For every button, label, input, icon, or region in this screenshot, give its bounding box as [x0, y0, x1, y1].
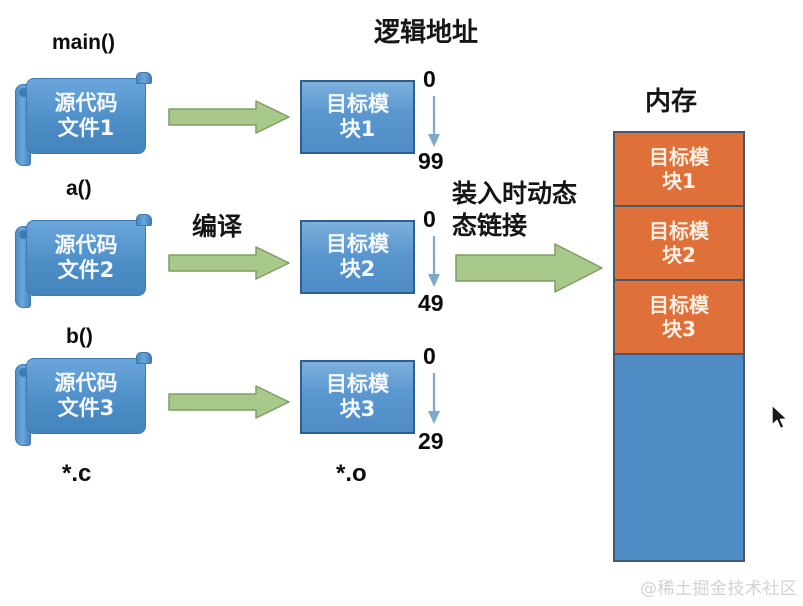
compile-label: 编译	[192, 213, 242, 241]
compile-arrow-1	[168, 100, 290, 134]
dynamic-link-arrow	[455, 243, 603, 293]
memory-block-2-line2: 块2	[662, 243, 696, 267]
target-module-1[interactable]: 目标模 块1	[300, 80, 415, 154]
source-file-2[interactable]: 源代码 文件2	[14, 214, 154, 302]
scroll-right-roll	[136, 214, 152, 226]
source-file-3[interactable]: 源代码 文件3	[14, 352, 154, 440]
source-file-1[interactable]: 源代码 文件1	[14, 72, 154, 160]
address-range-arrow-3	[424, 373, 444, 425]
function-label-b: b()	[66, 326, 93, 347]
address-start-2: 0	[423, 208, 436, 231]
memory-column[interactable]: 目标模 块1 目标模 块2 目标模 块3	[613, 131, 745, 562]
compile-arrow-2	[168, 246, 290, 280]
address-end-1: 99	[418, 150, 444, 173]
target-module-3-line1: 目标模	[326, 372, 389, 397]
memory-block-2-line1: 目标模	[649, 219, 709, 243]
memory-block-3[interactable]: 目标模 块3	[615, 281, 743, 355]
address-start-3: 0	[423, 345, 436, 368]
source-file-1-line2: 文件1	[58, 116, 115, 141]
memory-block-3-line2: 块3	[662, 317, 696, 341]
target-module-2-line2: 块2	[340, 257, 376, 282]
source-file-3-line1: 源代码	[55, 371, 118, 396]
mouse-cursor	[770, 404, 790, 432]
function-label-main: main()	[52, 32, 115, 53]
target-module-2[interactable]: 目标模 块2	[300, 220, 415, 294]
target-module-3-line2: 块3	[340, 397, 376, 422]
address-start-1: 0	[423, 68, 436, 91]
source-file-3-line2: 文件3	[58, 396, 115, 421]
scroll-body: 源代码 文件3	[26, 358, 146, 434]
diagram-canvas: 逻辑地址 内存 main() 源代码 文件1 目标模 块1 0 99 a() 源…	[0, 0, 803, 606]
address-range-arrow-1	[424, 96, 444, 148]
source-extension-label: *.c	[62, 462, 91, 486]
target-module-1-line2: 块1	[340, 117, 376, 142]
dynamic-link-label-line2: 态链接	[452, 212, 527, 240]
target-module-1-line1: 目标模	[326, 92, 389, 117]
memory-block-3-line1: 目标模	[649, 293, 709, 317]
logical-address-heading: 逻辑地址	[374, 19, 478, 48]
memory-heading: 内存	[645, 88, 697, 117]
watermark: @稀土掘金技术社区	[640, 574, 798, 599]
target-module-3[interactable]: 目标模 块3	[300, 360, 415, 434]
target-module-2-line1: 目标模	[326, 232, 389, 257]
memory-block-2[interactable]: 目标模 块2	[615, 207, 743, 281]
function-label-a: a()	[66, 178, 92, 199]
source-file-2-line2: 文件2	[58, 258, 115, 283]
memory-block-1[interactable]: 目标模 块1	[615, 133, 743, 207]
scroll-right-roll	[136, 352, 152, 364]
memory-block-1-line2: 块1	[662, 169, 696, 193]
object-extension-label: *.o	[336, 462, 367, 486]
scroll-body: 源代码 文件2	[26, 220, 146, 296]
source-file-2-line1: 源代码	[55, 233, 118, 258]
compile-arrow-3	[168, 385, 290, 419]
scroll-right-roll	[136, 72, 152, 84]
memory-block-1-line1: 目标模	[649, 145, 709, 169]
address-end-3: 29	[418, 430, 444, 453]
address-end-2: 49	[418, 292, 444, 315]
address-range-arrow-2	[424, 236, 444, 288]
dynamic-link-label-line1: 装入时动态	[452, 180, 577, 208]
scroll-body: 源代码 文件1	[26, 78, 146, 154]
source-file-1-line1: 源代码	[55, 91, 118, 116]
